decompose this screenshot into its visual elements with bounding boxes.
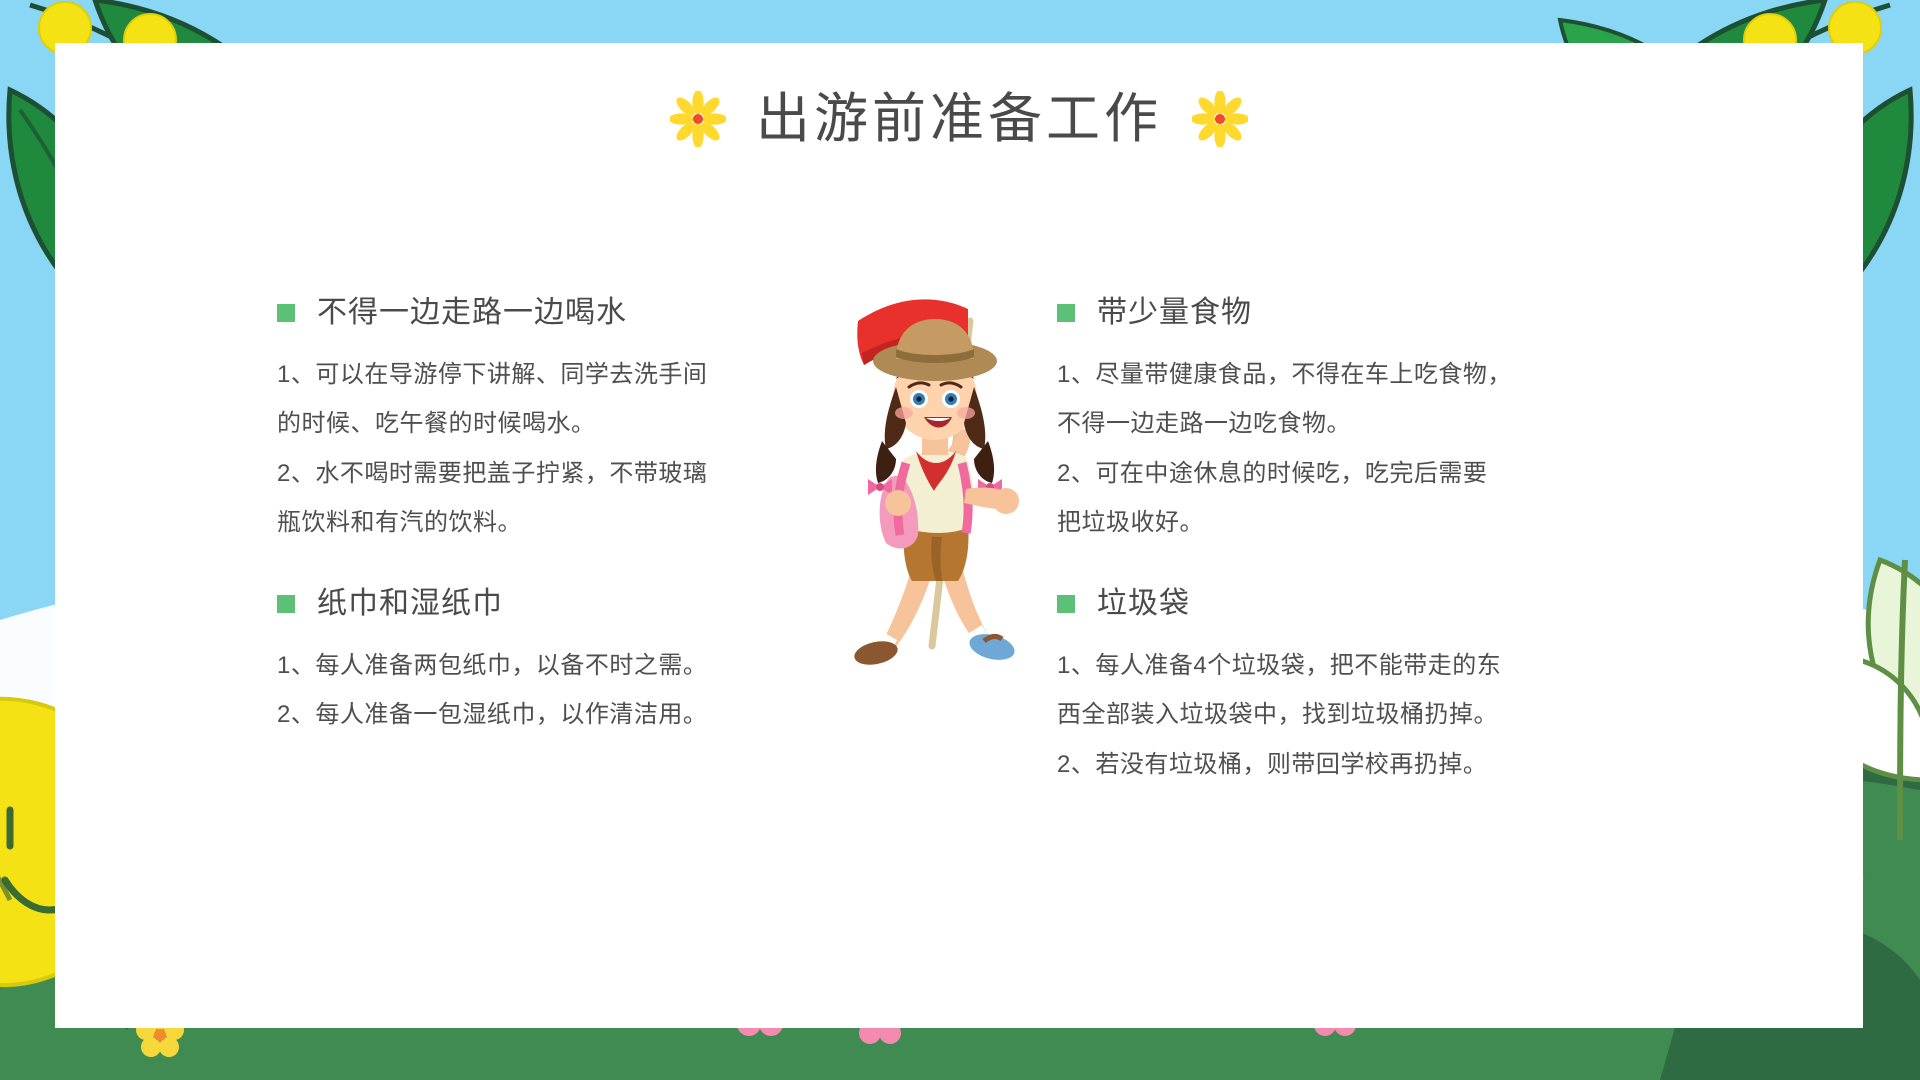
section-body: 1、每人准备4个垃圾袋，把不能带走的东 西全部装入垃圾袋中，找到垃圾桶扔掉。 2… — [1057, 645, 1803, 785]
body-line: 的时候、吃午餐的时候喝水。 — [277, 403, 909, 444]
section-title: 不得一边走路一边喝水 — [317, 298, 627, 328]
left-column: 不得一边走路一边喝水 1、可以在导游停下讲解、同学去洗手间 的时候、吃午餐的时候… — [55, 298, 959, 831]
body-line: 2、水不喝时需要把盖子拧紧，不带玻璃 — [277, 453, 909, 494]
body-line: 2、每人准备一包湿纸巾，以作清洁用。 — [277, 694, 909, 735]
body-line: 1、每人准备两包纸巾，以备不时之需。 — [277, 645, 909, 686]
section-heading: 带少量食物 — [1057, 298, 1803, 328]
section-title: 垃圾袋 — [1097, 589, 1190, 619]
slide-title-row: 出游前准备工作 — [55, 91, 1863, 147]
body-line: 2、若没有垃圾桶，则带回学校再扔掉。 — [1057, 744, 1803, 785]
right-column: 带少量食物 1、尽量带健康食品，不得在车上吃食物， 不得一边走路一边吃食物。 2… — [959, 298, 1863, 831]
section-title: 带少量食物 — [1097, 298, 1252, 328]
body-line: 1、尽量带健康食品，不得在车上吃食物， — [1057, 354, 1803, 395]
section-garbage-bag: 垃圾袋 1、每人准备4个垃圾袋，把不能带走的东 西全部装入垃圾袋中，找到垃圾桶扔… — [1057, 589, 1803, 785]
section-heading: 不得一边走路一边喝水 — [277, 298, 909, 328]
section-title: 纸巾和湿纸巾 — [317, 589, 503, 619]
section-no-drink-while-walking: 不得一边走路一边喝水 1、可以在导游停下讲解、同学去洗手间 的时候、吃午餐的时候… — [277, 298, 909, 543]
body-line: 西全部装入垃圾袋中，找到垃圾桶扔掉。 — [1057, 694, 1803, 735]
section-heading: 纸巾和湿纸巾 — [277, 589, 909, 619]
body-line: 1、每人准备4个垃圾袋，把不能带走的东 — [1057, 645, 1803, 686]
square-bullet-icon — [277, 595, 295, 613]
body-line: 瓶饮料和有汽的饮料。 — [277, 502, 909, 543]
page-title: 出游前准备工作 — [756, 92, 1162, 146]
section-heading: 垃圾袋 — [1057, 589, 1803, 619]
body-line: 1、可以在导游停下讲解、同学去洗手间 — [277, 354, 909, 395]
body-line: 不得一边走路一边吃食物。 — [1057, 403, 1803, 444]
girl-with-flag-illustration — [834, 291, 1084, 691]
square-bullet-icon — [277, 304, 295, 322]
body-line: 2、可在中途休息的时候吃，吃完后需要 — [1057, 453, 1803, 494]
body-line: 把垃圾收好。 — [1057, 502, 1803, 543]
section-body: 1、每人准备两包纸巾，以备不时之需。 2、每人准备一包湿纸巾，以作清洁用。 — [277, 645, 909, 736]
section-bring-little-food: 带少量食物 1、尽量带健康食品，不得在车上吃食物， 不得一边走路一边吃食物。 2… — [1057, 298, 1803, 543]
section-tissues: 纸巾和湿纸巾 1、每人准备两包纸巾，以备不时之需。 2、每人准备一包湿纸巾，以作… — [277, 589, 909, 736]
flower-icon-right — [1192, 91, 1248, 147]
slide-card: 出游前准备工作 不得一边走路一边喝水 — [55, 43, 1863, 1028]
flower-icon-left — [670, 91, 726, 147]
section-body: 1、尽量带健康食品，不得在车上吃食物， 不得一边走路一边吃食物。 2、可在中途休… — [1057, 354, 1803, 543]
section-body: 1、可以在导游停下讲解、同学去洗手间 的时候、吃午餐的时候喝水。 2、水不喝时需… — [277, 354, 909, 543]
